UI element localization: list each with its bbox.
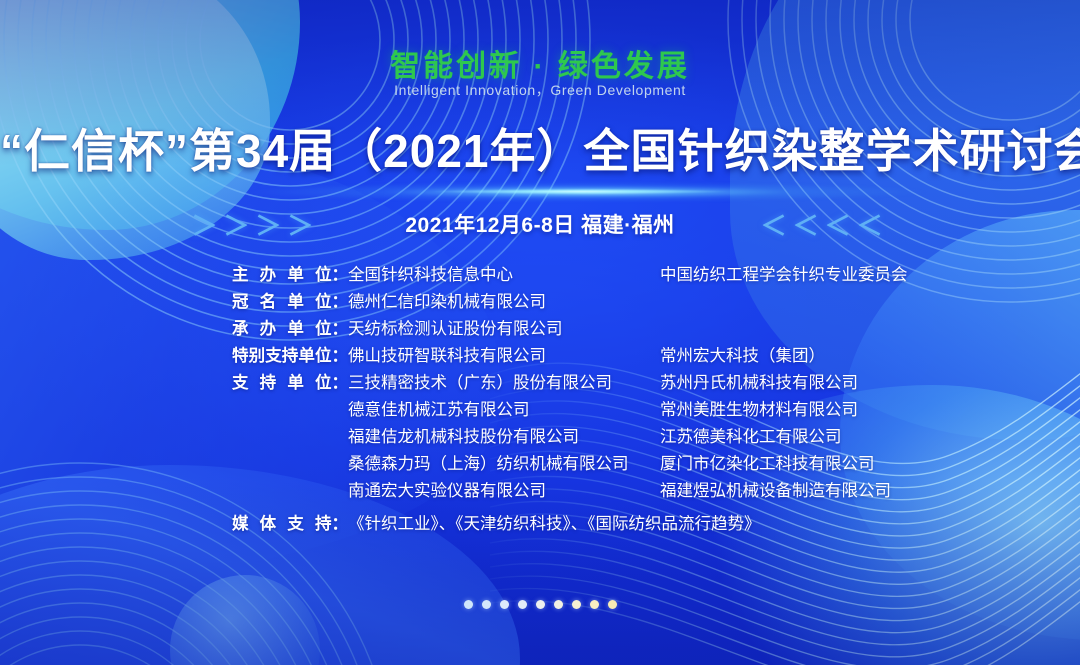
credit-value-primary: 天纺标检测认证股份有限公司 bbox=[348, 316, 563, 343]
credit-row: 主办单位：全国针织科技信息中心中国纺织工程学会针织专业委员会 bbox=[0, 262, 1080, 289]
poster-content: 智能创新 · 绿色发展 Intelligent Innovation，Green… bbox=[0, 0, 1080, 665]
credit-row: 德意佳机械江苏有限公司常州美胜生物材料有限公司 bbox=[0, 397, 1080, 424]
credit-label bbox=[0, 478, 348, 505]
credit-value: 全国针织科技信息中心中国纺织工程学会针织专业委员会 bbox=[348, 262, 1080, 289]
credit-label: 支持单位： bbox=[0, 370, 348, 397]
chevron-right-decor-icon: ＞＞＞＞ bbox=[191, 206, 319, 243]
credit-row: 桑德森力玛（上海）纺织机械有限公司厦门市亿染化工科技有限公司 bbox=[0, 451, 1080, 478]
credit-value: 佛山技研智联科技有限公司常州宏大科技（集团） bbox=[348, 343, 1080, 370]
credit-value-primary: 《针织工业》、《天津纺织科技》、《国际纺织品流行趋势》 bbox=[348, 511, 761, 538]
credit-value-primary: 三技精密技术（广东）股份有限公司 bbox=[348, 370, 660, 397]
credit-value-secondary: 常州宏大科技（集团） bbox=[660, 343, 1080, 370]
credit-label: 特别支持单位： bbox=[0, 343, 348, 370]
credit-value: 天纺标检测认证股份有限公司 bbox=[348, 316, 1080, 343]
credit-value-primary: 全国针织科技信息中心 bbox=[348, 262, 660, 289]
dot-indicator-item bbox=[572, 600, 581, 609]
credit-row: 冠名单位：德州仁信印染机械有限公司 bbox=[0, 289, 1080, 316]
credits-list: 主办单位：全国针织科技信息中心中国纺织工程学会针织专业委员会冠名单位：德州仁信印… bbox=[0, 262, 1080, 538]
credit-value-secondary: 厦门市亿染化工科技有限公司 bbox=[660, 451, 1080, 478]
dot-indicator-item bbox=[464, 600, 473, 609]
credit-value-primary: 德意佳机械江苏有限公司 bbox=[348, 397, 660, 424]
credit-value: 德意佳机械江苏有限公司常州美胜生物材料有限公司 bbox=[348, 397, 1080, 424]
credit-row: 支持单位：三技精密技术（广东）股份有限公司苏州丹氏机械科技有限公司 bbox=[0, 370, 1080, 397]
credit-label bbox=[0, 451, 348, 478]
credit-value: 福建佶龙机械科技股份有限公司江苏德美科化工有限公司 bbox=[348, 424, 1080, 451]
credit-value: 德州仁信印染机械有限公司 bbox=[348, 289, 1080, 316]
credit-value-secondary: 江苏德美科化工有限公司 bbox=[660, 424, 1080, 451]
credit-value-primary: 福建佶龙机械科技股份有限公司 bbox=[348, 424, 660, 451]
credit-value: 三技精密技术（广东）股份有限公司苏州丹氏机械科技有限公司 bbox=[348, 370, 1080, 397]
dot-indicator-item bbox=[608, 600, 617, 609]
credit-row: 南通宏大实验仪器有限公司福建煜弘机械设备制造有限公司 bbox=[0, 478, 1080, 505]
credit-value-primary: 南通宏大实验仪器有限公司 bbox=[348, 478, 660, 505]
credit-label bbox=[0, 424, 348, 451]
credit-label: 承办单位： bbox=[0, 316, 348, 343]
credit-row: 特别支持单位：佛山技研智联科技有限公司常州宏大科技（集团） bbox=[0, 343, 1080, 370]
tagline-english: Intelligent Innovation，Green Development bbox=[0, 80, 1080, 100]
dot-indicator-item bbox=[518, 600, 527, 609]
credit-value: 南通宏大实验仪器有限公司福建煜弘机械设备制造有限公司 bbox=[348, 478, 1080, 505]
credit-value-primary: 德州仁信印染机械有限公司 bbox=[348, 289, 546, 316]
credit-value: 《针织工业》、《天津纺织科技》、《国际纺织品流行趋势》 bbox=[348, 511, 1080, 538]
page-title: “仁信杯”第34届（2021年）全国针织染整学术研讨会 bbox=[0, 115, 1080, 181]
dot-indicator-item bbox=[482, 600, 491, 609]
credit-value-secondary: 中国纺织工程学会针织专业委员会 bbox=[660, 262, 1080, 289]
credit-label: 主办单位： bbox=[0, 262, 348, 289]
date-location-text: 2021年12月6-8日 福建·福州 bbox=[405, 209, 674, 239]
credit-row: 福建佶龙机械科技股份有限公司江苏德美科化工有限公司 bbox=[0, 424, 1080, 451]
credit-value-secondary: 苏州丹氏机械科技有限公司 bbox=[660, 370, 1080, 397]
dot-indicator-item bbox=[554, 600, 563, 609]
poster-canvas: 智能创新 · 绿色发展 Intelligent Innovation，Green… bbox=[0, 0, 1080, 665]
credit-value-primary: 桑德森力玛（上海）纺织机械有限公司 bbox=[348, 451, 660, 478]
credit-value-secondary: 福建煜弘机械设备制造有限公司 bbox=[660, 478, 1080, 505]
credit-label: 冠名单位： bbox=[0, 289, 348, 316]
credit-label: 媒体支持： bbox=[0, 511, 348, 538]
credit-value-primary: 佛山技研智联科技有限公司 bbox=[348, 343, 660, 370]
dots-indicator bbox=[0, 600, 1080, 609]
credit-row: 媒体支持：《针织工业》、《天津纺织科技》、《国际纺织品流行趋势》 bbox=[0, 511, 1080, 538]
dot-indicator-item bbox=[590, 600, 599, 609]
credit-value-secondary: 常州美胜生物材料有限公司 bbox=[660, 397, 1080, 424]
tagline-chinese: 智能创新 · 绿色发展 bbox=[0, 41, 1080, 85]
date-location-row: ＞＞＞＞ 2021年12月6-8日 福建·福州 ＜＜＜＜ bbox=[0, 208, 1080, 240]
dot-indicator-item bbox=[500, 600, 509, 609]
credit-row: 承办单位：天纺标检测认证股份有限公司 bbox=[0, 316, 1080, 343]
chevron-left-decor-icon: ＜＜＜＜ bbox=[761, 206, 889, 243]
credit-value: 桑德森力玛（上海）纺织机械有限公司厦门市亿染化工科技有限公司 bbox=[348, 451, 1080, 478]
credit-label bbox=[0, 397, 348, 424]
dot-indicator-item bbox=[536, 600, 545, 609]
